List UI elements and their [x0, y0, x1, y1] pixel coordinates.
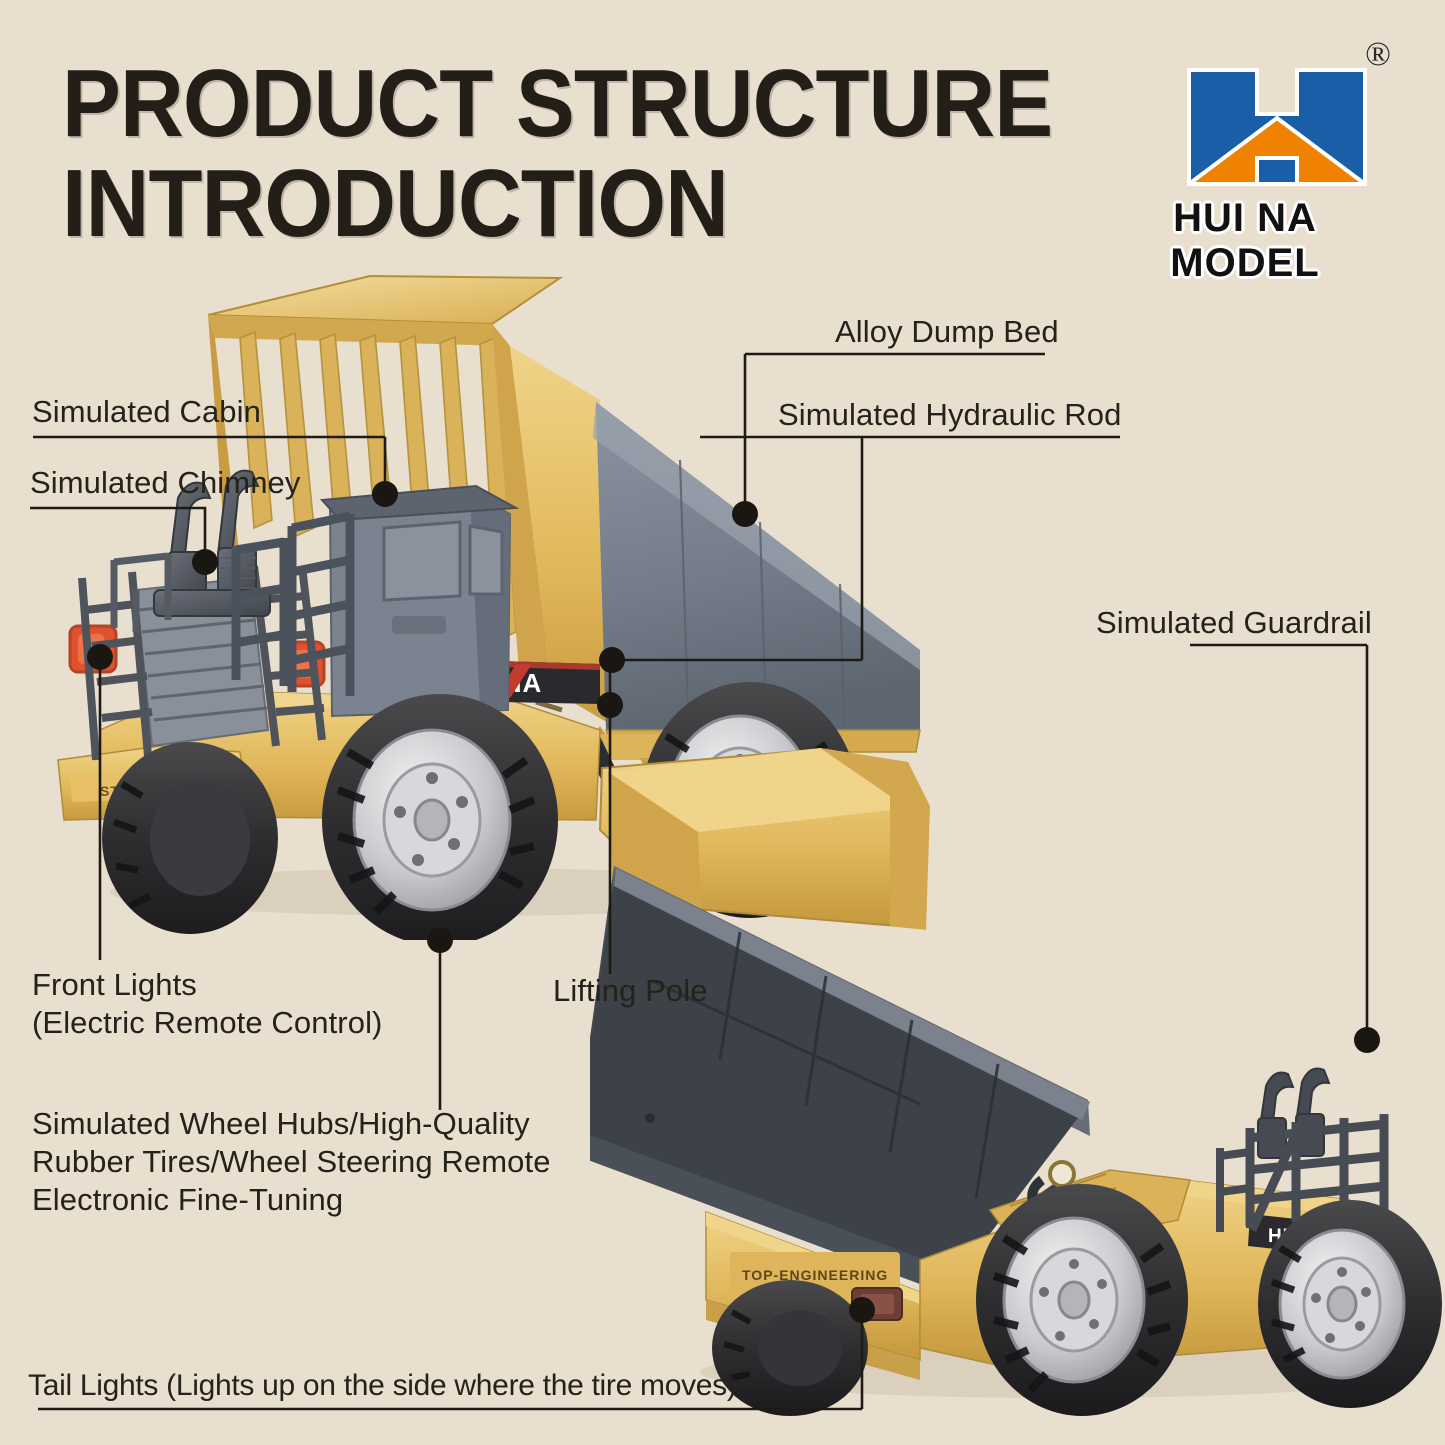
infographic-canvas: PRODUCT STRUCTURE INTRODUCTION ® HUI NA … [0, 0, 1445, 1445]
registered-trademark-icon: ® [1365, 36, 1391, 74]
svg-text:HUINA: HUINA [1268, 1226, 1333, 1247]
marker-simulated-cabin [372, 481, 398, 507]
title-line-2: INTRODUCTION [62, 158, 1074, 250]
dump-truck-illustration-1: HUINA 1540 STRONG POWER [40, 260, 940, 940]
svg-text:TOP-ENGINEERING: TOP-ENGINEERING [742, 1267, 888, 1283]
svg-text:STRONG POWER: STRONG POWER [100, 783, 229, 799]
marker-lifting-pole [597, 692, 623, 718]
marker-hydraulic-rod [599, 647, 625, 673]
page-title: PRODUCT STRUCTURE INTRODUCTION [62, 58, 1162, 250]
callout-label-simulated-hydraulic-rod: Simulated Hydraulic Rod [778, 396, 1121, 434]
callout-label-lifting-pole: Lifting Pole [553, 972, 708, 1010]
callout-label-front-lights: Front Lights (Electric Remote Control) [32, 966, 382, 1042]
title-line-1: PRODUCT STRUCTURE [62, 58, 1074, 150]
callout-label-simulated-guardrail: Simulated Guardrail [1096, 604, 1372, 642]
callout-label-simulated-cabin: Simulated Cabin [32, 393, 261, 431]
brand-logo: ® HUI NA MODEL [1095, 36, 1395, 236]
svg-text:1540: 1540 [1346, 1234, 1366, 1244]
logo-wordmark: HUI NA MODEL [1095, 196, 1395, 286]
marker-guardrail [1354, 1027, 1380, 1053]
callout-label-alloy-dump-bed: Alloy Dump Bed [835, 313, 1059, 351]
callout-label-tail-lights: Tail Lights (Lights up on the side where… [28, 1368, 737, 1405]
marker-tail-lights [849, 1297, 875, 1323]
marker-front-lights [87, 644, 113, 670]
dump-truck-illustration-2: TOP-ENGINEERING HUINA 1540 [590, 700, 1445, 1420]
marker-simulated-chimney [192, 549, 218, 575]
marker-wheel-hubs [427, 927, 453, 953]
marker-alloy-dump-bed [732, 501, 758, 527]
callout-label-wheel-hubs: Simulated Wheel Hubs/High-Quality Rubber… [32, 1105, 551, 1218]
svg-text:1540: 1540 [412, 679, 436, 691]
callout-label-simulated-chimney: Simulated Chimney [30, 464, 300, 502]
svg-text:HUINA: HUINA [455, 668, 542, 698]
huina-h-mountain-icon [1187, 66, 1367, 191]
leader-simulated-chimney [30, 508, 205, 562]
